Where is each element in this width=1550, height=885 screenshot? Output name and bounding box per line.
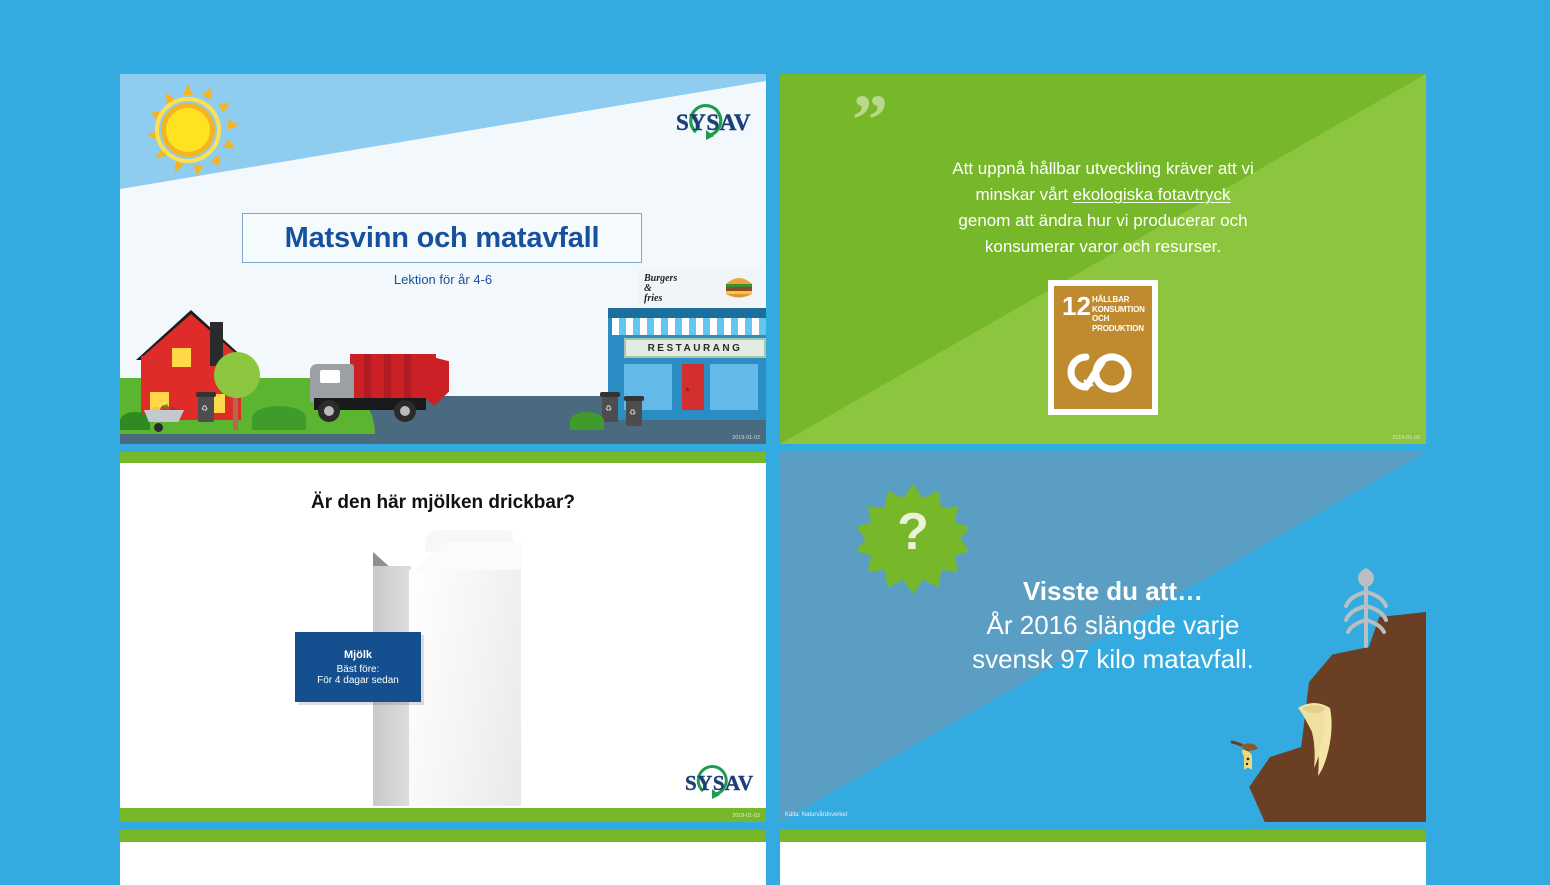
restaurant-sign-text: RESTAURANG: [626, 343, 764, 354]
question-mark: ?: [858, 506, 968, 558]
waste-bin-icon: ♻: [602, 396, 618, 422]
source-note: Källa: Naturvårdsverket: [785, 812, 847, 818]
quote-line-4: konsumerar varor och resurser.: [985, 237, 1221, 256]
slide-date: 2019-01-03: [732, 813, 760, 819]
fact-text: Visste du att… År 2016 slängde varje sve…: [890, 574, 1336, 676]
fact-line-3: svensk 97 kilo matavfall.: [890, 642, 1336, 676]
label-product: Mjölk: [295, 649, 421, 661]
quote-link-ekologiska-fotavtryck[interactable]: ekologiska fotavtryck: [1073, 185, 1231, 204]
sdg-label-line2: KONSUMTION OCH: [1092, 305, 1148, 324]
slide-thumbnail-title[interactable]: SYSAV Matsvinn och matavfall Lektion för…: [120, 74, 766, 444]
infinity-arrow-icon: [1064, 349, 1142, 395]
slide-thumbnail-partial-6[interactable]: [780, 830, 1426, 885]
burger-icon: [724, 274, 754, 300]
sysav-logo: SYSAV: [666, 102, 754, 142]
fact-line-2: År 2016 slängde varje: [890, 608, 1336, 642]
top-green-bar: [780, 830, 1426, 842]
quote-line-2-pre: minskar vårt: [975, 185, 1072, 204]
fish-skeleton-icon: [1340, 566, 1392, 654]
awning: [612, 318, 766, 335]
door: [682, 364, 704, 410]
quote-mark-icon: ”: [852, 100, 888, 140]
waste-bin-icon: ♻: [198, 396, 214, 422]
title-box: Matsvinn och matavfall: [242, 213, 642, 263]
sdg-label-line3: PRODUKTION: [1092, 324, 1148, 334]
slide-date: 2019-01-03: [1392, 435, 1420, 441]
sysav-wordmark: SYSAV: [676, 110, 751, 136]
fact-heading: Visste du att…: [890, 574, 1336, 608]
window: [710, 364, 758, 410]
sun-icon: [142, 84, 234, 176]
restaurant-sign-board: RESTAURANG: [624, 338, 766, 358]
sysav-wordmark: SYSAV: [685, 771, 754, 796]
sdg-number: 12: [1062, 294, 1091, 318]
sdg-12-badge: 12 HÅLLBAR KONSUMTION OCH PRODUKTION: [1048, 280, 1158, 415]
slide-thumbnail-did-you-know[interactable]: ? Visste du att… År 2016 slängde varje s…: [780, 452, 1426, 822]
wheelbarrow-icon: [144, 406, 188, 430]
slide-thumbnail-deck: SYSAV Matsvinn och matavfall Lektion för…: [0, 0, 1550, 885]
quote-text: Att uppnå hållbar utveckling kräver att …: [866, 156, 1340, 260]
tree-icon: [214, 352, 260, 398]
garbage-truck-icon: [308, 348, 448, 422]
bottom-green-bar: [120, 808, 766, 822]
slide-thumbnail-milk[interactable]: Är den här mjölken drickbar? Mjölk Bäst …: [120, 452, 766, 822]
bush-icon: [570, 412, 604, 430]
slide-heading: Är den här mjölken drickbar?: [120, 492, 766, 514]
banana-peel-icon: [1290, 698, 1338, 780]
best-before-label: Mjölk Bäst före: För 4 dagar sedan: [295, 632, 421, 702]
slide-title: Matsvinn och matavfall: [285, 222, 600, 255]
label-best-before: Bäst före:: [295, 664, 421, 675]
waste-bin-icon: ♻: [626, 400, 642, 426]
quote-line-1: Att uppnå hållbar utveckling kräver att …: [952, 159, 1253, 178]
burger-shop-sign: Burgers & fries: [638, 268, 762, 308]
burger-sign-line3: fries: [644, 294, 677, 304]
slide-date: 2019-01-03: [732, 435, 760, 441]
sdg-label-line1: HÅLLBAR: [1092, 295, 1148, 305]
label-date-value: För 4 dagar sedan: [295, 675, 421, 686]
quote-line-3: genom att ändra hur vi producerar och: [958, 211, 1247, 230]
top-green-bar: [120, 830, 766, 842]
apple-core-icon: [1226, 736, 1266, 776]
bush-icon: [252, 406, 306, 430]
sysav-logo: SYSAV: [676, 764, 758, 800]
slide-thumbnail-partial-5[interactable]: [120, 830, 766, 885]
top-green-bar: [120, 452, 766, 463]
slide-thumbnail-quote[interactable]: ” Att uppnå hållbar utveckling kräver at…: [780, 74, 1426, 444]
